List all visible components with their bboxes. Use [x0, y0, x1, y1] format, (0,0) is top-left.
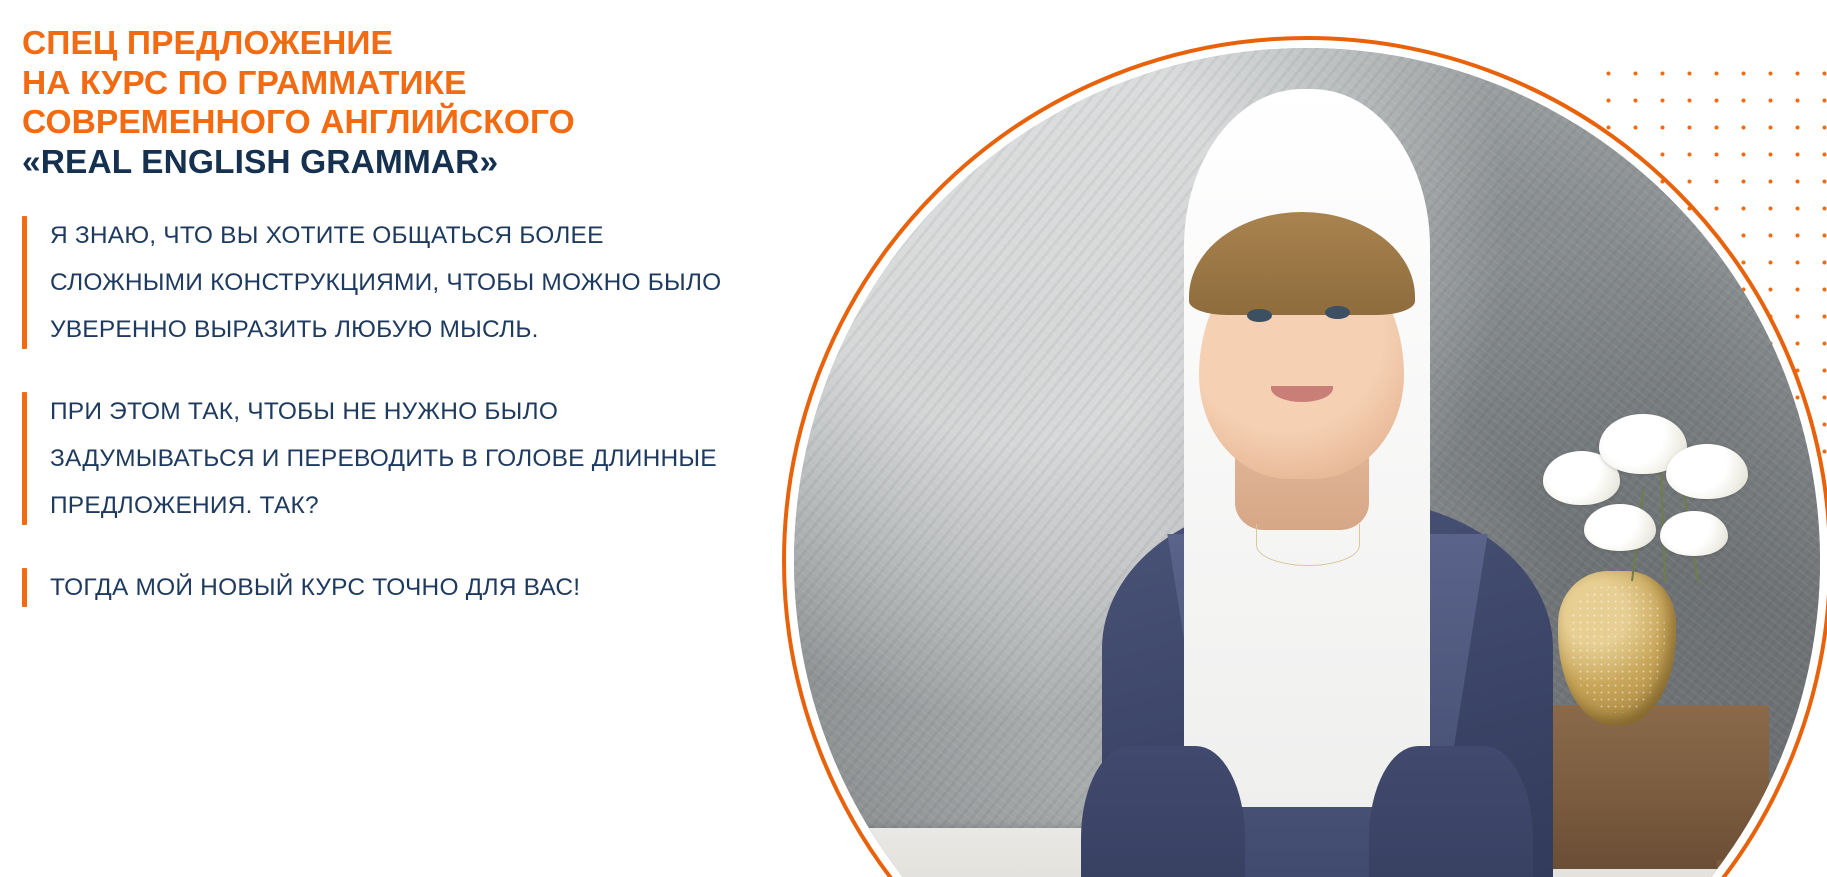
list-item-line: Я ЗНАЮ, ЧТО ВЫ ХОТИТЕ ОБЩАТЬСЯ БОЛЕЕ	[50, 212, 800, 259]
text-column: СПЕЦ ПРЕДЛОЖЕНИЕ НА КУРС ПО ГРАММАТИКЕ С…	[0, 0, 800, 877]
list-item-text: ТОГДА МОЙ НОВЫЙ КУРС ТОЧНО ДЛЯ ВАС!	[50, 564, 800, 611]
list-item-text: Я ЗНАЮ, ЧТО ВЫ ХОТИТЕ ОБЩАТЬСЯ БОЛЕЕ СЛО…	[50, 212, 800, 353]
list-item-line: ЗАДУМЫВАТЬСЯ И ПЕРЕВОДИТЬ В ГОЛОВЕ ДЛИНН…	[50, 435, 800, 482]
list-item: ТОГДА МОЙ НОВЫЙ КУРС ТОЧНО ДЛЯ ВАС!	[0, 564, 800, 611]
list-item-line: ПРИ ЭТОМ ТАК, ЧТОБЫ НЕ НУЖНО БЫЛО	[50, 388, 800, 435]
page-title: СПЕЦ ПРЕДЛОЖЕНИЕ НА КУРС ПО ГРАММАТИКЕ С…	[22, 24, 782, 182]
headline-line-2: НА КУРС ПО ГРАММАТИКЕ	[22, 64, 782, 104]
benefit-list: Я ЗНАЮ, ЧТО ВЫ ХОТИТЕ ОБЩАТЬСЯ БОЛЕЕ СЛО…	[0, 212, 800, 611]
headline-line-3: СОВРЕМЕННОГО АНГЛИЙСКОГО	[22, 103, 782, 143]
hero-photo	[782, 36, 1827, 877]
promo-banner: СПЕЦ ПРЕДЛОЖЕНИЕ НА КУРС ПО ГРАММАТИКЕ С…	[0, 0, 1827, 877]
headline-line-4: «REAL ENGLISH GRAMMAR»	[22, 143, 782, 183]
accent-bar-icon	[22, 392, 27, 525]
list-item-line: ТОГДА МОЙ НОВЫЙ КУРС ТОЧНО ДЛЯ ВАС!	[50, 564, 800, 611]
list-item-line: СЛОЖНЫМИ КОНСТРУКЦИЯМИ, ЧТОБЫ МОЖНО БЫЛО	[50, 259, 800, 306]
list-item-text: ПРИ ЭТОМ ТАК, ЧТОБЫ НЕ НУЖНО БЫЛО ЗАДУМЫ…	[50, 388, 800, 529]
list-item-line: УВЕРЕННО ВЫРАЗИТЬ ЛЮБУЮ МЫСЛЬ.	[50, 306, 800, 353]
list-item: Я ЗНАЮ, ЧТО ВЫ ХОТИТЕ ОБЩАТЬСЯ БОЛЕЕ СЛО…	[0, 212, 800, 353]
accent-bar-icon	[22, 568, 27, 607]
headline-line-1: СПЕЦ ПРЕДЛОЖЕНИЕ	[22, 24, 782, 64]
accent-bar-icon	[22, 216, 27, 349]
list-item-line: ПРЕДЛОЖЕНИЯ. ТАК?	[50, 482, 800, 529]
list-item: ПРИ ЭТОМ ТАК, ЧТОБЫ НЕ НУЖНО БЫЛО ЗАДУМЫ…	[0, 388, 800, 529]
